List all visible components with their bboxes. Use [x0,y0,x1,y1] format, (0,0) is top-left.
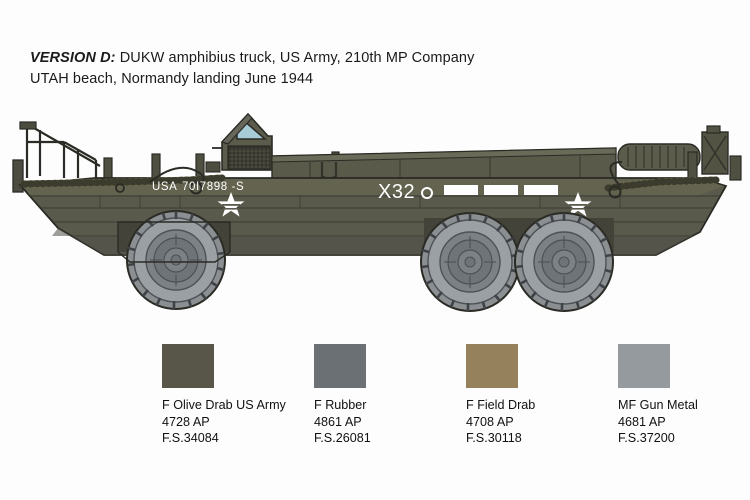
vehicle-illustration: USA 70I7898 -S X32 [0,100,750,330]
swatch-chip [618,344,670,388]
swatch-item: MF Gun Metal 4681 AP F.S.37200 [618,344,718,447]
swatch-name: MF Gun Metal [618,397,718,414]
swatch-fs: F.S.34084 [162,430,262,447]
marking-serial: 70I7898 -S [182,181,244,193]
wheel-front [127,211,225,309]
swatch-text: MF Gun Metal 4681 AP F.S.37200 [618,397,718,447]
swatch-text: F Rubber 4861 AP F.S.26081 [314,397,414,447]
swatch-name: F Field Drab [466,397,566,414]
caption-line-2: UTAH beach, Normandy landing June 1944 [30,69,670,90]
marking-usa: USA [152,181,177,193]
swatch-name: F Olive Drab US Army [162,397,262,414]
version-label: VERSION D: [30,50,116,66]
swatch-chip [314,344,366,388]
crane-head-fitting [20,122,36,129]
jerry-can [702,126,728,174]
marking-bar-2 [484,185,518,195]
marking-bar-3 [524,185,558,195]
illustration-page: VERSION D: DUKW amphibius truck, US Army… [0,0,750,500]
swatch-code: 4728 AP [162,414,262,431]
swatch-code: 4681 AP [618,414,718,431]
color-legend: F Olive Drab US Army 4728 AP F.S.34084 F… [162,344,732,447]
caption-block: VERSION D: DUKW amphibius truck, US Army… [30,48,670,90]
swatch-text: F Olive Drab US Army 4728 AP F.S.34084 [162,397,262,447]
swatch-code: 4708 AP [466,414,566,431]
marking-bar-1 [444,185,478,195]
swatch-fs: F.S.37200 [618,430,718,447]
stern-post [688,152,697,178]
wheel-rear-back [515,213,613,311]
swatch-item: F Olive Drab US Army 4728 AP F.S.34084 [162,344,262,447]
wheel-rear-front [421,213,519,311]
swatch-name: F Rubber [314,397,414,414]
caption-line-1: VERSION D: DUKW amphibius truck, US Army… [30,48,670,69]
bow-crane-assembly [27,124,100,178]
swatch-chip [162,344,214,388]
caption-line-1-rest: DUKW amphibius truck, US Army, 210th MP … [116,50,475,66]
swatch-fs: F.S.30118 [466,430,566,447]
swatch-chip [466,344,518,388]
cargo-bay-gunwale [272,148,616,179]
swatch-fs: F.S.26081 [314,430,414,447]
dukw-svg: USA 70I7898 -S X32 [0,100,750,330]
stern-stowage-group [618,126,741,180]
cab-step-box [206,162,220,172]
swatch-item: F Rubber 4861 AP F.S.26081 [314,344,414,447]
swatch-item: F Field Drab 4708 AP F.S.30118 [466,344,566,447]
marking-unit-code: X32 [378,181,415,203]
swatch-code: 4861 AP [314,414,414,431]
cab-assembly [206,114,272,172]
stern-post-rear [730,156,741,180]
swatch-text: F Field Drab 4708 AP F.S.30118 [466,397,566,447]
